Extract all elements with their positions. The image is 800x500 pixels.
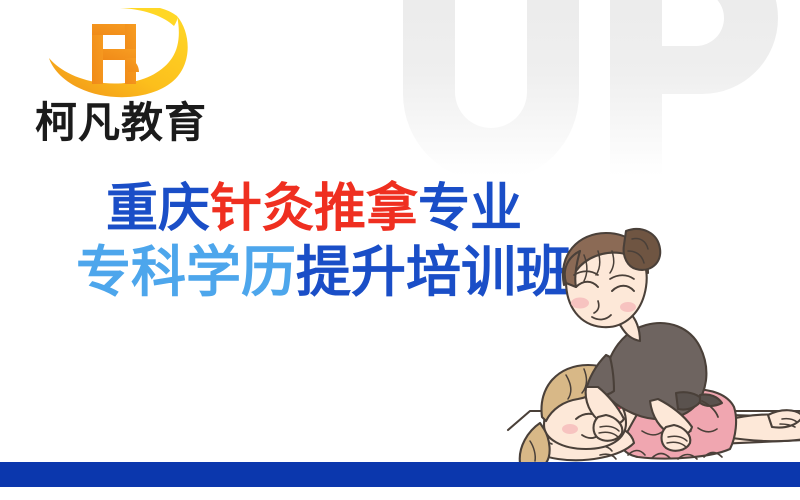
headline-line1-seg-2: 针灸推拿 <box>210 179 418 239</box>
brand-logo: 柯凡教育 <box>16 8 226 148</box>
up-watermark <box>385 0 785 192</box>
massage-therapy-illustration <box>500 225 800 470</box>
promo-banner: 柯凡教育 重庆针灸推拿专业 专科学历提升培训班 <box>0 0 800 500</box>
brand-wordmark: 柯凡教育 <box>16 100 226 146</box>
headline-line2-seg-1: 专科学历 <box>76 240 296 304</box>
bottom-accent-bar <box>0 462 800 487</box>
crescent-r-icon <box>46 8 196 100</box>
headline-line1-seg-1: 重庆 <box>106 179 210 239</box>
